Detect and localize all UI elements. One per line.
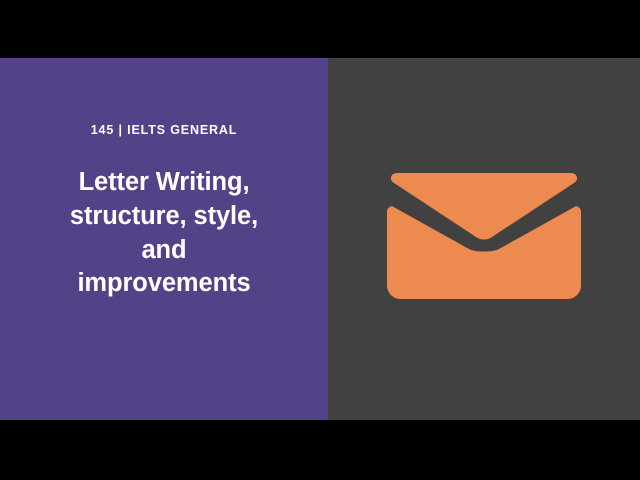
- title-line: structure, style,: [38, 200, 290, 234]
- icon-panel: [328, 58, 640, 420]
- title-line: improvements: [38, 267, 290, 301]
- title-line: and: [38, 234, 290, 268]
- page-title: Letter Writing, structure, style, and im…: [38, 166, 290, 302]
- video-frame: 145 | IELTS GENERAL Letter Writing, stru…: [0, 0, 640, 480]
- letterbox-top: [0, 0, 640, 58]
- envelope-icon-wrap: [387, 173, 581, 299]
- title-panel: 145 | IELTS GENERAL Letter Writing, stru…: [0, 58, 328, 420]
- envelope-icon: [387, 173, 581, 299]
- letterbox-bottom: [0, 420, 640, 480]
- episode-eyebrow: 145 | IELTS GENERAL: [0, 124, 328, 138]
- title-line: Letter Writing,: [38, 166, 290, 200]
- slide-content: 145 | IELTS GENERAL Letter Writing, stru…: [0, 58, 640, 420]
